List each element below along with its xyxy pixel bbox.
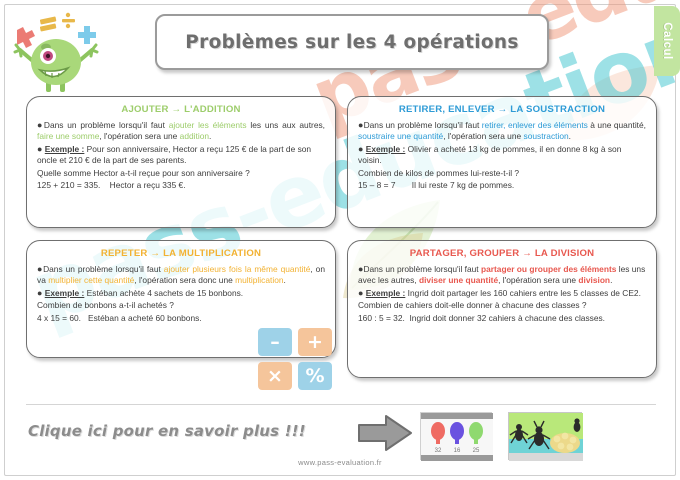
multiplication-example: ● Exemple : Estéban achète 4 sachets de … — [37, 288, 325, 299]
multiplication-rule-pre: Dans un problème lorsqu'il faut — [43, 264, 164, 274]
addition-rule-mid1: les uns aux autres, — [247, 120, 325, 130]
soustraction-rule-hl2: soustraire une quantité — [358, 131, 443, 141]
ants-thumbnail-image — [509, 413, 583, 461]
addition-rule-end: . — [209, 131, 211, 141]
soustraction-rule-hl1: retirer, enlever des éléments — [482, 120, 588, 130]
addition-calculation: 125 + 210 = 335. — [37, 180, 100, 190]
soustraction-question: Combien de kilos de pommes lui-reste-t-i… — [358, 168, 646, 179]
balloon-label-2: 16 — [454, 448, 461, 454]
addition-heading: AJOUTER → L'ADDITION — [37, 104, 325, 115]
balloons-thumbnail-image: 32 16 25 — [421, 413, 493, 461]
soustraction-rule-mid2: , l'opération sera une — [443, 131, 523, 141]
division-heading: PARTAGER, GROUPER → LA DIVISION — [358, 248, 646, 259]
division-solution: 160 : 5 = 32. Ingrid doit donner 32 cahi… — [358, 313, 646, 324]
soustraction-solution: 15 – 8 = 7 Il lui reste 7 kg de pommes. — [358, 180, 646, 191]
balloons-exercise-thumbnail[interactable]: 32 16 25 — [420, 412, 492, 460]
division-example-line1: Ingrid doit partager les 160 cahiers ent… — [408, 288, 641, 298]
soustraction-rule-pre: Dans un problème lorsqu'il faut — [364, 120, 482, 130]
right-arrow-icon — [356, 412, 414, 454]
multiplication-rule-end: . — [284, 275, 286, 285]
balloon-label-1: 32 — [435, 448, 442, 454]
addition-example: ● Exemple : Pour son anniversaire, Hecto… — [37, 144, 325, 167]
bullet-icon: ● — [358, 288, 363, 298]
division-rule-hl3: division — [578, 275, 610, 285]
multiplication-solution: 4 x 15 = 60. Estéban a acheté 60 bonbons… — [37, 313, 325, 324]
subject-tab-label: Calcul — [661, 22, 673, 60]
bullet-icon: ● — [37, 120, 44, 130]
cta-link[interactable]: Clique ici pour en savoir plus !!! — [28, 418, 328, 444]
addition-rule-mid2: , l'opération sera une — [99, 131, 179, 141]
addition-rule-hl2: faire une somme — [37, 131, 99, 141]
division-calculation: 160 : 5 = 32. — [358, 313, 405, 323]
bottom-divider — [26, 404, 656, 405]
addition-answer: Hector a reçu 335 €. — [110, 180, 186, 190]
division-rule-pre: Dans un problème lorsqu'il faut — [363, 264, 481, 274]
division-example-label: Exemple : — [366, 288, 406, 298]
addition-rule-hl3: addition — [180, 131, 209, 141]
division-rule-hl1: partager ou grouper des éléments — [481, 264, 616, 274]
multiplication-heading: REPETER → LA MULTIPLICATION — [37, 248, 325, 259]
cta-label: Clique ici pour en savoir plus !!! — [28, 422, 306, 440]
division-example: ● Exemple : Ingrid doit partager les 160… — [358, 288, 646, 299]
division-answer: Ingrid doit donner 32 cahiers à chacune … — [409, 313, 605, 323]
subject-tab-calcul[interactable]: Calcul — [654, 6, 680, 76]
bullet-icon: ● — [37, 144, 42, 154]
soustraction-heading: RETIRER, ENLEVER → LA SOUSTRACTION — [358, 104, 646, 115]
division-question: Combien de cahiers doit-elle donner à ch… — [358, 300, 646, 311]
soustraction-rule: ●Dans un problème lorsqu'il faut retirer… — [358, 120, 646, 143]
ants-exercise-thumbnail[interactable] — [508, 412, 582, 460]
division-rule-hl2: diviser une quantité — [419, 275, 498, 285]
multiplication-rule-hl2: multiplier cette quantité — [48, 275, 134, 285]
soustraction-example: ● Exemple : Olivier a acheté 13 kg de po… — [358, 144, 646, 167]
addition-rule: ●Dans un problème lorsqu'il faut ajouter… — [37, 120, 325, 143]
soustraction-example-label: Exemple : — [366, 144, 406, 154]
soustraction-rule-hl3: soustraction — [524, 131, 569, 141]
division-rule: ●Dans un problème lorsqu'il faut partage… — [358, 264, 646, 287]
addition-rule-pre: Dans un problème lorsqu'il faut — [44, 120, 169, 130]
multiplication-question: Combien de bonbons a-t-il achetés ? — [37, 300, 325, 311]
green-monster-mascot-icon — [4, 4, 108, 96]
page-title: Problèmes sur les 4 opérations — [185, 32, 518, 53]
soustraction-calculation: 15 – 8 = 7 — [358, 180, 396, 190]
multiplication-rule: ●Dans un problème lorsqu'il faut ajouter… — [37, 264, 325, 287]
multiplication-example-line1: Estéban achète 4 sachets de 15 bonbons. — [87, 288, 243, 298]
page-title-box: Problèmes sur les 4 opérations — [155, 14, 549, 70]
addition-rule-hl1: ajouter les éléments — [169, 120, 247, 130]
addition-solution: 125 + 210 = 335. Hector a reçu 335 €. — [37, 180, 325, 191]
soustraction-answer: Il lui reste 7 kg de pommes. — [412, 180, 514, 190]
multiplication-rule-hl3: multiplication — [235, 275, 283, 285]
multiplication-example-label: Exemple : — [45, 288, 85, 298]
soustraction-rule-end: . — [569, 131, 571, 141]
minus-operator-icon: – — [258, 328, 292, 356]
times-operator-icon: × — [258, 362, 292, 390]
lesson-box-soustraction: RETIRER, ENLEVER → LA SOUSTRACTION ●Dans… — [347, 96, 657, 228]
bullet-icon: ● — [358, 144, 363, 154]
addition-example-label: Exemple : — [45, 144, 85, 154]
multiplication-rule-hl1: ajouter plusieurs fois la même quantité — [164, 264, 311, 274]
worksheet-page: pass-education pass-education — [0, 0, 680, 480]
operator-tiles: – + × % — [258, 328, 332, 392]
multiplication-calculation: 4 x 15 = 60. — [37, 313, 81, 323]
multiplication-answer: Estéban a acheté 60 bonbons. — [88, 313, 202, 323]
multiplication-rule-mid2: , l'opération sera donc une — [134, 275, 235, 285]
plus-operator-icon: + — [298, 328, 332, 356]
lesson-box-division: PARTAGER, GROUPER → LA DIVISION ●Dans un… — [347, 240, 657, 378]
lesson-box-addition: AJOUTER → L'ADDITION ●Dans un problème l… — [26, 96, 336, 228]
division-rule-mid2: , l'opération sera une — [498, 275, 578, 285]
addition-question: Quelle somme Hector a-t-il reçue pour so… — [37, 168, 325, 179]
balloon-label-3: 25 — [473, 448, 480, 454]
divide-operator-icon: % — [298, 362, 332, 390]
footer-url: www.pass-evaluation.fr — [0, 458, 680, 467]
bullet-icon: ● — [37, 288, 42, 298]
division-rule-end: . — [610, 275, 612, 285]
soustraction-rule-mid1: à une quantité, — [588, 120, 646, 130]
